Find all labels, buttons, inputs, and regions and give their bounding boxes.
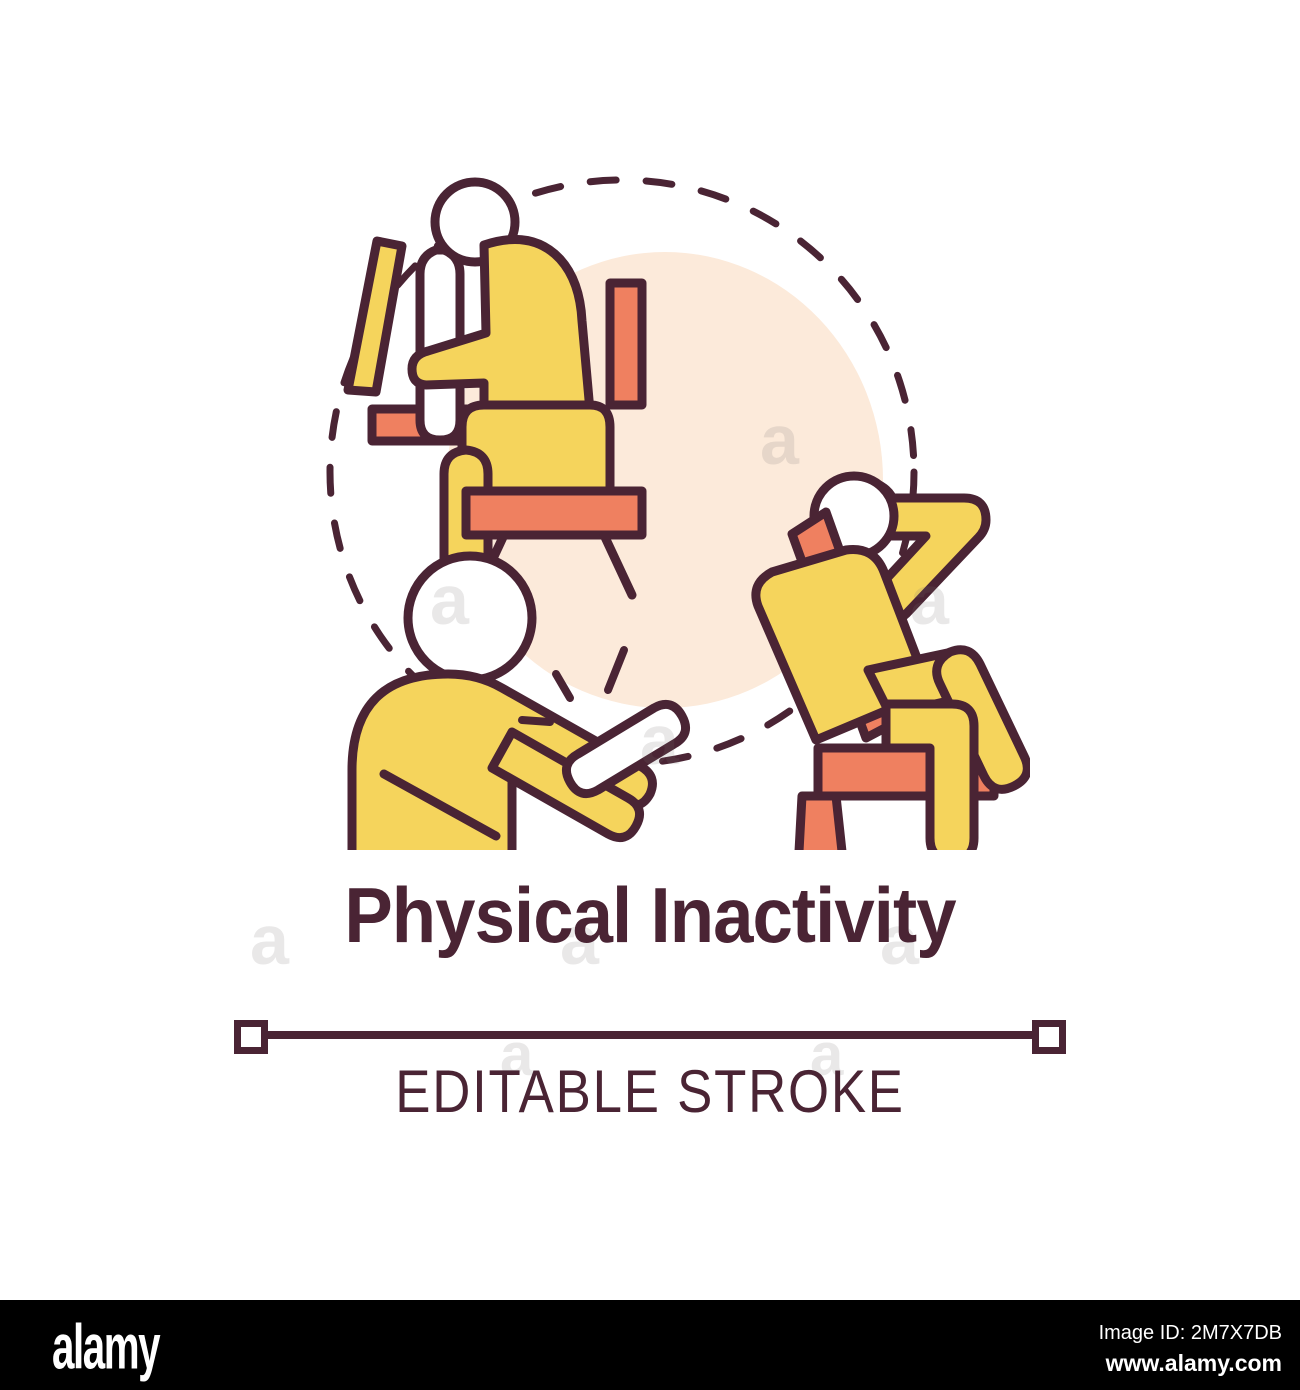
stroke-endpoint-left-handle[interactable] xyxy=(234,1020,268,1054)
stroke-ruler xyxy=(234,1012,1066,1060)
desk-chair-seat xyxy=(466,491,642,535)
stroke-endpoint-right-handle[interactable] xyxy=(1032,1020,1066,1054)
concept-illustration xyxy=(290,150,1030,850)
phone-user-head xyxy=(408,556,532,680)
motion-line-3 xyxy=(522,720,550,722)
alamy-image-id: Image ID: 2M7X7DB xyxy=(1099,1322,1282,1345)
editable-stroke-block: EDITABLE STROKE xyxy=(0,1000,1300,1170)
stroke-ruler-line xyxy=(267,1031,1033,1039)
alamy-url[interactable]: www.alamy.com xyxy=(1106,1350,1282,1377)
alamy-footer-bar: alamy Image ID: 2M7X7DB www.alamy.com xyxy=(0,1300,1300,1390)
editable-stroke-label: EDITABLE STROKE xyxy=(78,1062,1222,1122)
stock-image-card: a a a a a a a a a Physical Inactivity ED… xyxy=(0,0,1300,1390)
alamy-logo: alamy xyxy=(52,1316,159,1379)
armchair-front-leg xyxy=(798,796,844,850)
laptop-screen xyxy=(348,241,402,392)
concept-title: Physical Inactivity xyxy=(46,876,1255,954)
person-reclining-in-armchair xyxy=(756,476,1027,850)
desk-chair-back xyxy=(610,283,642,405)
